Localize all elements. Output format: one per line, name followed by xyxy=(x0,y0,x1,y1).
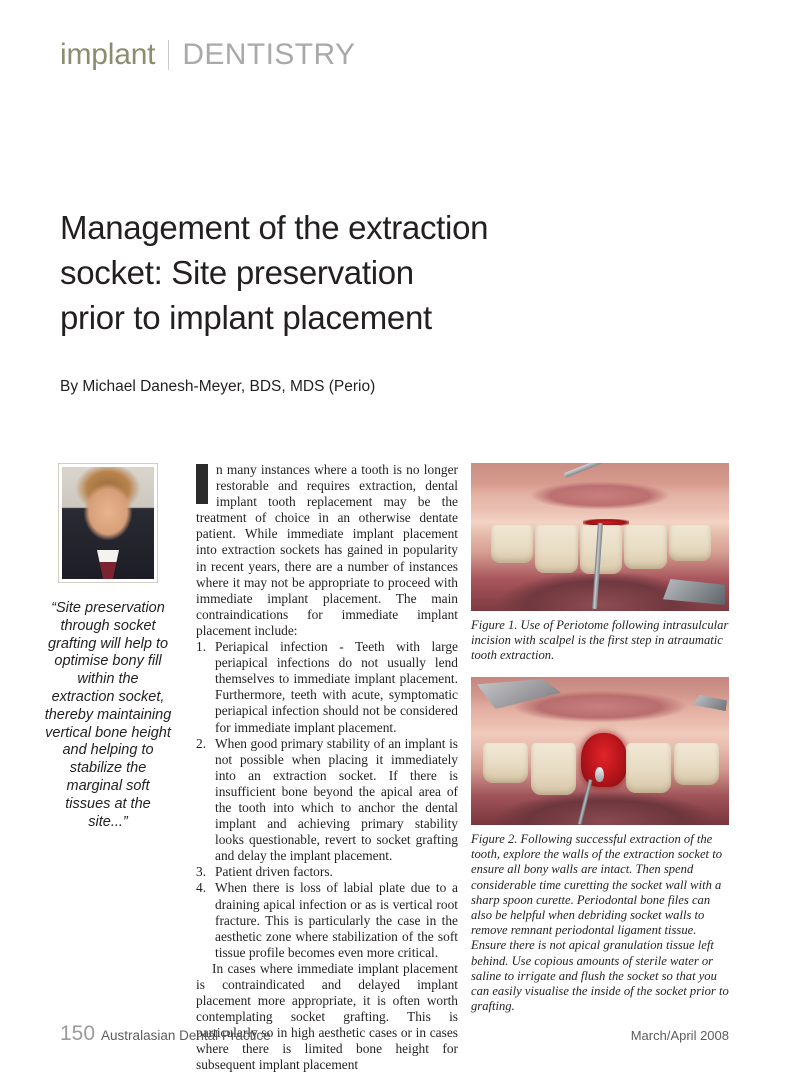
list-item: 2. When good primary stability of an imp… xyxy=(196,736,458,865)
page-number: 150 xyxy=(60,1022,95,1046)
pull-quote: “Site preservation through socket grafti… xyxy=(44,600,172,831)
list-item: 4. When there is loss of labial plate du… xyxy=(196,880,458,960)
closing-paragraph: In cases where immediate implant placeme… xyxy=(196,961,458,1074)
masthead-word-dentistry: DENTISTRY xyxy=(182,38,355,72)
tooth xyxy=(535,525,577,573)
figure-2-image xyxy=(471,677,729,825)
list-item-number: 1. xyxy=(196,639,206,655)
lead-paragraph: n many instances where a tooth is no lon… xyxy=(196,462,458,639)
list-item-text: Patient driven factors. xyxy=(215,864,333,879)
drop-cap xyxy=(196,464,208,504)
masthead-divider xyxy=(168,40,169,70)
author-portrait-image xyxy=(62,467,154,579)
list-item-number: 4. xyxy=(196,880,206,896)
figure-1-caption: Figure 1. Use of Periotome following int… xyxy=(471,618,729,664)
issue-date: March/April 2008 xyxy=(631,1028,729,1043)
title-line-1: Management of the extraction xyxy=(60,205,660,250)
masthead: implant DENTISTRY xyxy=(60,38,355,72)
page-footer: 150 Australasian Dental Practice March/A… xyxy=(60,1022,729,1046)
retractor-icon xyxy=(663,579,725,605)
footer-left: 150 Australasian Dental Practice xyxy=(60,1022,271,1046)
retractor-icon xyxy=(693,695,727,711)
list-item-text: When there is loss of labial plate due t… xyxy=(215,880,458,959)
title-line-3: prior to implant placement xyxy=(60,295,660,340)
figure-1: Figure 1. Use of Periotome following int… xyxy=(471,463,729,664)
list-item-number: 3. xyxy=(196,864,206,880)
list-item: 1. Periapical infection - Teeth with lar… xyxy=(196,639,458,736)
tooth xyxy=(669,525,711,561)
contraindications-list: 1. Periapical infection - Teeth with lar… xyxy=(196,639,458,961)
spoon-curette-icon xyxy=(595,767,604,782)
author-portrait xyxy=(58,463,158,583)
lead-paragraph-text: n many instances where a tooth is no lon… xyxy=(196,462,458,638)
tooth xyxy=(624,525,666,569)
list-item-text: When good primary stability of an implan… xyxy=(215,736,458,864)
author-byline: By Michael Danesh-Meyer, BDS, MDS (Perio… xyxy=(60,378,375,396)
list-item-number: 2. xyxy=(196,736,206,752)
tooth xyxy=(531,743,576,795)
figure-2-caption: Figure 2. Following successful extractio… xyxy=(471,832,729,1014)
dental-instrument-icon xyxy=(564,463,607,478)
figure-1-image xyxy=(471,463,729,611)
dental-mirror-icon xyxy=(477,679,561,709)
figure-2: Figure 2. Following successful extractio… xyxy=(471,677,729,1014)
page-title: Management of the extraction socket: Sit… xyxy=(60,205,660,340)
tooth xyxy=(674,743,719,785)
tooth xyxy=(483,743,528,783)
tooth xyxy=(491,525,533,563)
masthead-word-implant: implant xyxy=(60,38,155,72)
tooth xyxy=(626,743,671,793)
list-item: 3. Patient driven factors. xyxy=(196,864,458,880)
title-line-2: socket: Site preservation xyxy=(60,250,660,295)
publication-name: Australasian Dental Practice xyxy=(101,1028,271,1043)
list-item-text: Periapical infection - Teeth with large … xyxy=(215,639,458,734)
article-body: n many instances where a tooth is no lon… xyxy=(196,462,458,1074)
